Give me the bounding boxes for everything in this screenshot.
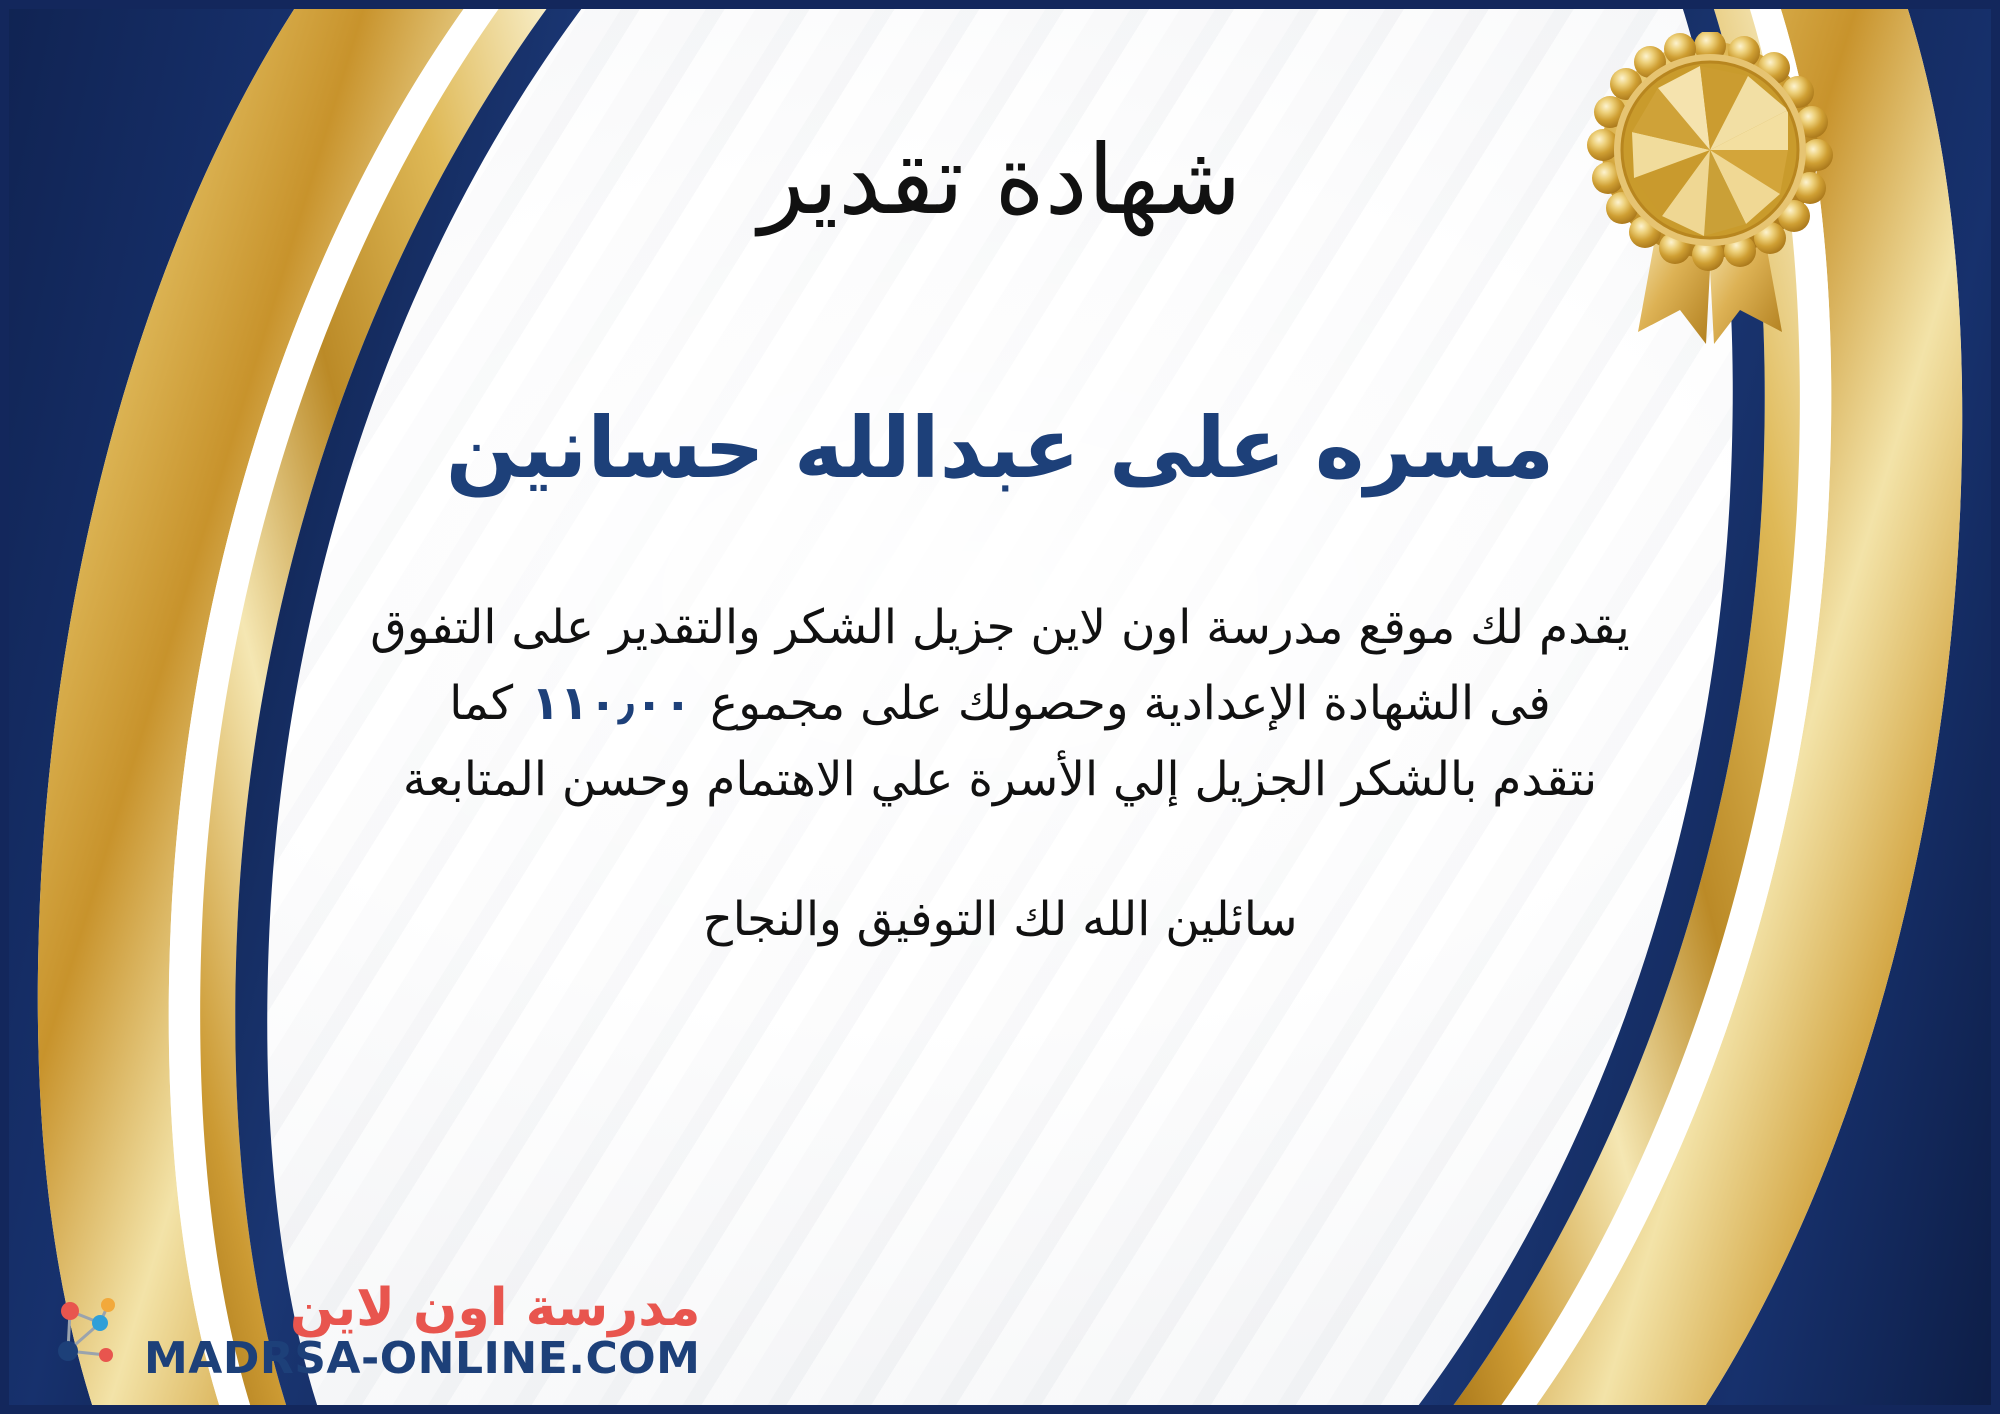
certificate-canvas: شهادة تقدير مسره على عبدالله حسانين يقدم… <box>0 0 2000 1414</box>
site-logo[interactable]: مدرسة اون لاين MADRSA-ONLINE.COM <box>44 1281 700 1382</box>
network-nodes-icon <box>44 1289 130 1375</box>
body-line-2-prefix: فى الشهادة الإعدادية وحصولك على مجموع <box>710 676 1551 731</box>
certificate-content: شهادة تقدير مسره على عبدالله حسانين يقدم… <box>0 0 2000 1414</box>
certificate-body: يقدم لك موقع مدرسة اون لاين جزيل الشكر و… <box>180 590 1820 818</box>
page-title: شهادة تقدير <box>759 128 1242 234</box>
closing-wish: سائلين الله لك التوفيق والنجاح <box>702 892 1297 947</box>
body-line-1: يقدم لك موقع مدرسة اون لاين جزيل الشكر و… <box>180 590 1820 666</box>
logo-url: MADRSA-ONLINE.COM <box>144 1336 700 1382</box>
body-line-2-suffix: كما <box>449 676 513 731</box>
total-score-value: ١١٠٫٠٠ <box>513 676 710 731</box>
logo-arabic-name: مدرسة اون لاين <box>290 1281 701 1336</box>
body-line-2: فى الشهادة الإعدادية وحصولك على مجموع١١٠… <box>180 666 1820 742</box>
logo-text-block: مدرسة اون لاين MADRSA-ONLINE.COM <box>144 1281 700 1382</box>
recipient-name: مسره على عبدالله حسانين <box>446 402 1554 494</box>
body-line-3: نتقدم بالشكر الجزيل إلي الأسرة علي الاهت… <box>180 742 1820 818</box>
